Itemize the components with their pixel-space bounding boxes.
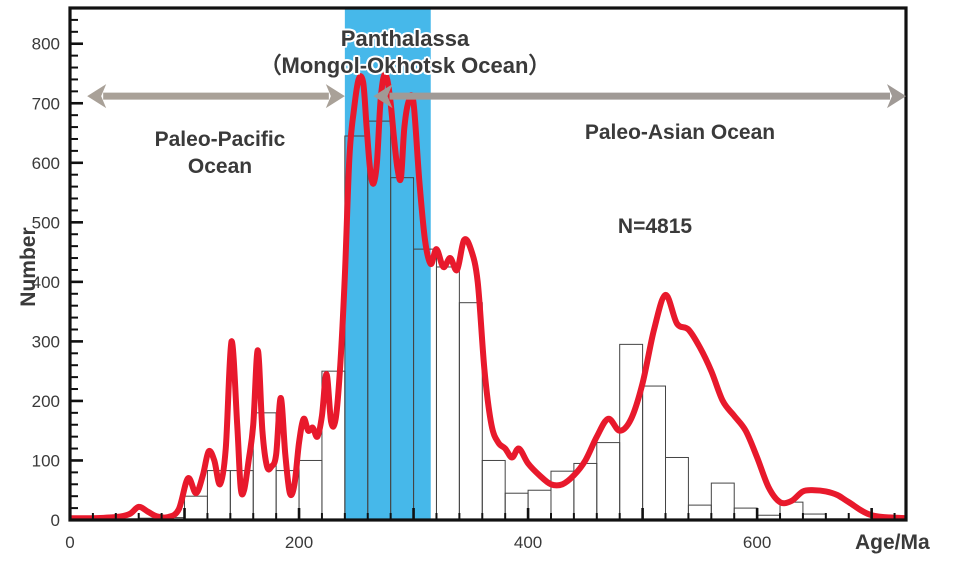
y-tick-label: 0 <box>51 511 60 530</box>
y-tick-label: 600 <box>32 154 60 173</box>
y-tick-label: 300 <box>32 332 60 351</box>
y-tick-label: 700 <box>32 94 60 113</box>
paleo-pacific-label: Paleo-Pacific Ocean <box>110 128 330 179</box>
paleo-pacific-label-line1: Paleo-Pacific <box>155 128 286 151</box>
chart-canvas: 0100200300400500600700800 0200400600 <box>0 0 959 573</box>
paleo-pacific-label-line2: Ocean <box>110 155 330 179</box>
panthalassa-label: Panthalassa （Mongol-Okhotsk Ocean） <box>195 26 615 79</box>
chart-figure: 0100200300400500600700800 0200400600 Num… <box>0 0 959 573</box>
y-tick-label: 800 <box>32 35 60 54</box>
x-axis-label: Age/Ma <box>855 531 930 555</box>
x-tick-label: 200 <box>285 533 313 552</box>
y-tick-label: 100 <box>32 451 60 470</box>
y-axis-label: Number <box>17 207 41 327</box>
x-tick-label: 600 <box>743 533 771 552</box>
panthalassa-label-line1: Panthalassa <box>341 26 469 51</box>
y-tick-label: 200 <box>32 392 60 411</box>
panthalassa-label-line2: （Mongol-Okhotsk Ocean） <box>195 53 615 78</box>
x-tick-label: 400 <box>514 533 542 552</box>
x-tick-label: 0 <box>65 533 74 552</box>
plot-background <box>70 8 906 520</box>
paleo-asian-label: Paleo-Asian Ocean <box>515 121 845 145</box>
sample-count-label: N=4815 <box>545 215 765 239</box>
